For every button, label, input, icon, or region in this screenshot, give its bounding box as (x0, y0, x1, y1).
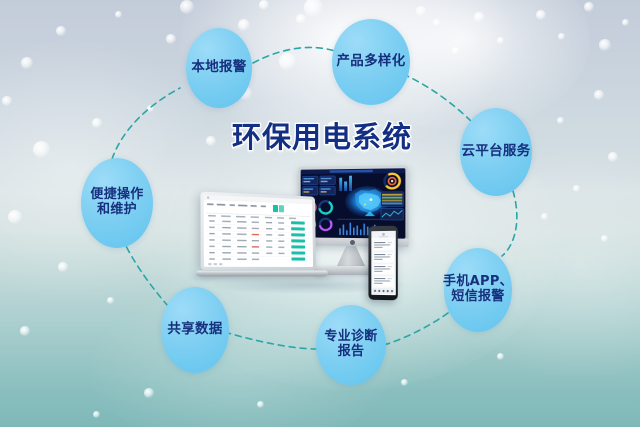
bubble-label: 短信报警 (451, 290, 504, 305)
laptop-keyboard-base (195, 271, 329, 277)
smartphone (368, 226, 397, 301)
bubble-label: 本地报警 (191, 60, 246, 75)
laptop (200, 191, 316, 270)
page-title: 环保用电系统 (222, 114, 422, 156)
bubble-node-local-alarm[interactable]: 本地报警 (186, 28, 252, 108)
bubble-label: 产品多样化 (337, 54, 406, 69)
bubble-label: 便捷操作 (90, 188, 143, 203)
bubble-label: 和维护 (97, 203, 137, 218)
bubble-label: 手机APP、 (443, 275, 513, 290)
data-table-visualization (204, 195, 313, 267)
bubble-node-diagnostic-report[interactable]: 专业诊断报告 (316, 305, 386, 385)
bubble-label: 专业诊断 (324, 330, 377, 345)
mobile-app-list (371, 231, 395, 295)
bubble-node-easy-operation[interactable]: 便捷操作和维护 (81, 158, 153, 248)
laptop-lid (200, 191, 316, 270)
monitor-stand-neck (336, 246, 366, 268)
bubble-label: 报告 (338, 345, 365, 360)
bubble-node-product-diversity[interactable]: 产品多样化 (332, 19, 410, 105)
bubble-node-mobile-app-sms[interactable]: 手机APP、短信报警 (444, 248, 512, 332)
poster-canvas: 本地报警产品多样化云平台服务手机APP、短信报警专业诊断报告共享数据便捷操作和维… (0, 0, 640, 427)
monitor-logo-icon (350, 239, 355, 244)
bubble-label: 共享数据 (167, 322, 222, 337)
laptop-screen (204, 195, 313, 267)
bubble-label: 云平台服务 (462, 144, 531, 159)
bubble-node-cloud-platform[interactable]: 云平台服务 (460, 108, 532, 196)
bubble-node-shared-data[interactable]: 共享数据 (161, 287, 229, 373)
phone-screen (371, 231, 395, 295)
